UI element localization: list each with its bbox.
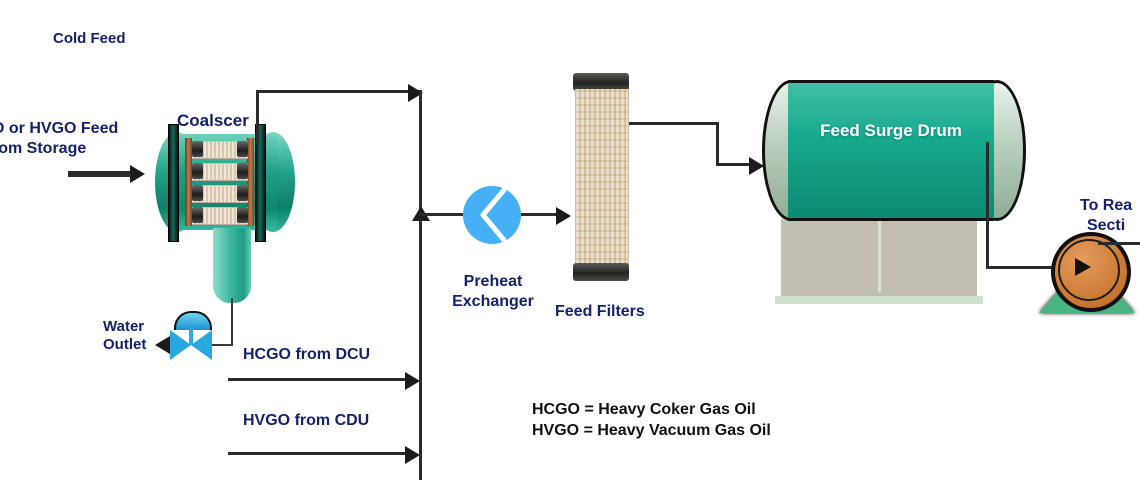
legend-line-2: HVGO = Heavy Vacuum Gas Oil bbox=[532, 421, 771, 442]
label-hcgo-from-dcu: HCGO from DCU bbox=[243, 345, 370, 365]
coalescer-left-tubesheet bbox=[185, 138, 192, 226]
pump-flow-arrow-icon bbox=[1075, 258, 1091, 276]
coalescer-element-cap bbox=[237, 185, 248, 201]
hcgo-arrowhead bbox=[405, 372, 420, 390]
feed-inlet-line bbox=[68, 171, 132, 177]
label-to-reactor-section: To Rea Secti bbox=[1080, 196, 1132, 235]
coalescer-element-cap bbox=[192, 141, 203, 157]
hvgo-arrowhead bbox=[405, 446, 420, 464]
drum-saddle-divider bbox=[878, 216, 881, 292]
process-flow-diagram: Cold Feed O or HVGO Feed rom Storage Coa… bbox=[0, 0, 1140, 500]
filter-bottom-cap bbox=[573, 263, 629, 281]
valve-actuator-dome[interactable] bbox=[174, 311, 212, 330]
coalescer-vessel bbox=[155, 132, 295, 232]
coalescer-element-cap bbox=[237, 163, 248, 179]
valve-body-left[interactable] bbox=[170, 330, 191, 360]
drum-shell bbox=[788, 80, 994, 221]
water-outlet-arrowhead bbox=[155, 336, 170, 354]
feed-inlet-arrowhead bbox=[130, 165, 145, 183]
hcgo-feed-line bbox=[228, 378, 414, 381]
water-drain-riser bbox=[231, 298, 233, 346]
label-hvgo-from-cdu: HVGO from CDU bbox=[243, 411, 369, 431]
coalescer-element-cap bbox=[192, 163, 203, 179]
coalescer-element-cap bbox=[192, 185, 203, 201]
coalescer-right-tubesheet bbox=[247, 138, 254, 226]
coalescer-left-flange bbox=[168, 124, 179, 242]
drum-label: Feed Surge Drum bbox=[788, 120, 994, 141]
coalescer-outlet-header bbox=[256, 90, 422, 93]
header-to-exchanger-line bbox=[419, 213, 463, 216]
coalescer-water-boot bbox=[213, 228, 251, 303]
label-cold-feed: Cold Feed bbox=[53, 30, 126, 48]
coalescer-outlet-riser bbox=[256, 92, 259, 144]
label-water-outlet: Water Outlet bbox=[103, 318, 146, 355]
preheat-exchanger[interactable] bbox=[463, 186, 521, 244]
drum-outlet-downcomer bbox=[986, 142, 989, 268]
coalescer-element-cap bbox=[192, 207, 203, 223]
label-preheat-exchanger: Preheat Exchanger bbox=[452, 272, 534, 311]
feed-surge-drum[interactable]: Feed Surge Drum bbox=[762, 80, 1020, 215]
label-coalescer: Coalscer bbox=[177, 111, 249, 132]
filter-outlet-line bbox=[629, 122, 719, 125]
label-feed-from-storage: O or HVGO Feed rom Storage bbox=[0, 119, 118, 158]
filter-outlet-drop bbox=[716, 122, 719, 166]
hvgo-feed-line bbox=[228, 452, 414, 455]
feed-filter-cartridge[interactable] bbox=[573, 73, 629, 281]
filter-media bbox=[575, 89, 629, 265]
drum-base-plate bbox=[775, 296, 983, 304]
label-feed-filters: Feed Filters bbox=[555, 302, 645, 322]
coalescer-element-cap bbox=[237, 141, 248, 157]
pump-discharge-line bbox=[1098, 242, 1140, 245]
combined-feed-header bbox=[419, 90, 422, 480]
coalescer-element-cap bbox=[237, 207, 248, 223]
filter-inlet-arrowhead bbox=[556, 207, 571, 225]
legend-line-1: HCGO = Heavy Coker Gas Oil bbox=[532, 400, 756, 421]
valve-body-right[interactable] bbox=[191, 330, 212, 360]
